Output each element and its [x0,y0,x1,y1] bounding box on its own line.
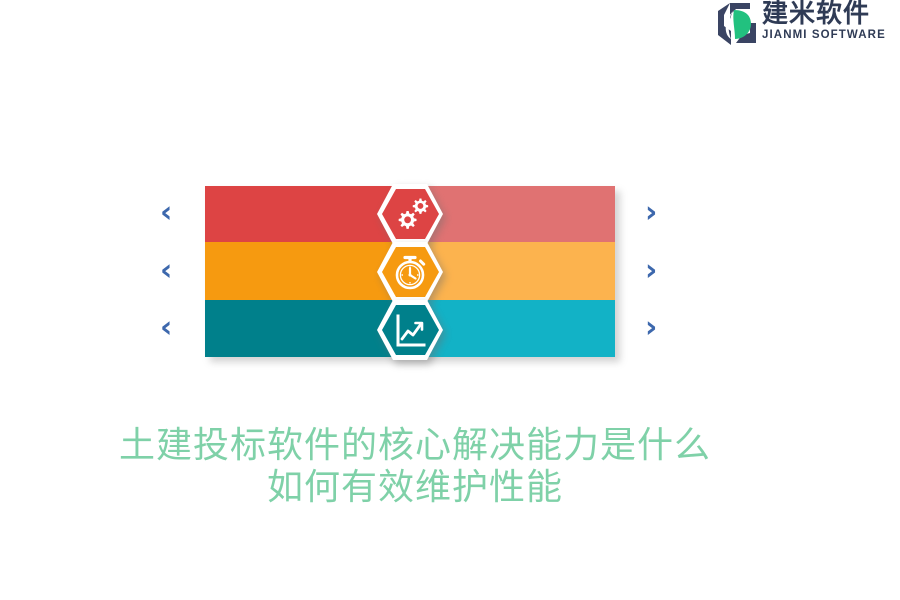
leaf-hexagon-logo-icon [710,1,758,47]
page-title: 土建投标软件的核心解决能力是什么 如何有效维护性能 [0,425,830,509]
page-title-line-2: 如何有效维护性能 [0,467,830,509]
chevron-left-icon-row-1[interactable]: ‹ [160,198,172,228]
page-title-line-1: 土建投标软件的核心解决能力是什么 [0,425,830,467]
brand-name-en: JIANMI SOFTWARE [762,28,886,42]
brand-text: 建米软件 JIANMI SOFTWARE [762,0,886,42]
hexagon-badge-group [375,182,445,362]
chevron-left-icon-row-3[interactable]: ‹ [160,313,172,343]
hexagon-badge-3[interactable] [375,298,445,362]
hexagon-badge-1[interactable] [375,182,445,246]
chevron-right-icon-row-3[interactable]: › [645,313,657,343]
chevron-right-icon-row-2[interactable]: › [645,256,657,286]
brand-logo: 建米软件 JIANMI SOFTWARE [710,0,900,50]
chevron-right-icon-row-1[interactable]: › [645,198,657,228]
chevron-left-icon-row-2[interactable]: ‹ [160,256,172,286]
brand-name-cn: 建米软件 [762,0,886,28]
infographic-banner [205,186,615,357]
hexagon-badge-2[interactable] [375,240,445,304]
